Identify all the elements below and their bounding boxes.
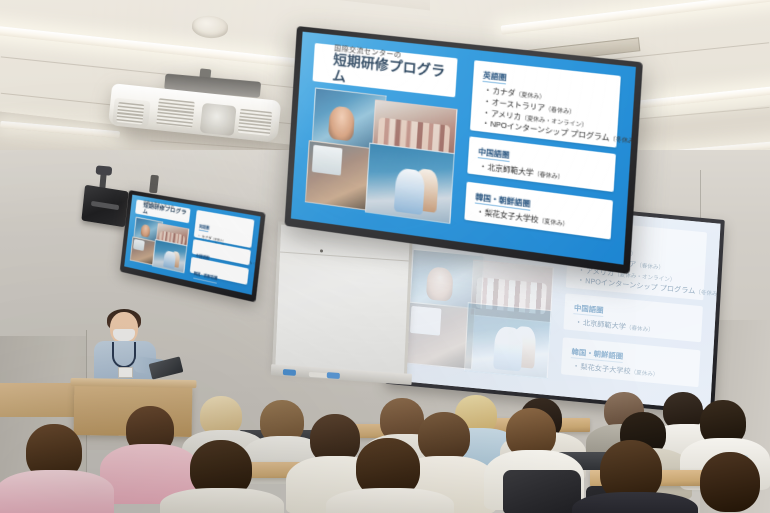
face-mask-icon [113,329,135,341]
slide-card-heading: 英語圏 [483,72,507,85]
slide-card-list: 北京師範大学（春休み） [563,317,702,341]
whiteboard-seam [280,252,409,262]
slide-card-korean: 韓国・朝鮮語圏 梨花女子大学校（夏休み） [561,337,701,387]
slide-card-list: 梨花女子大学校（夏休み） [464,206,612,237]
audience-shoulders [0,470,114,513]
front-desk [0,383,84,417]
slide-card-heading: 中国語圏 [478,148,510,162]
audience-shoulders [160,488,284,513]
slide-card-korean: 韓国・朝鮮語圏 梨花女子大学校（夏休み） [464,182,614,240]
whiteboard-marker [327,372,340,379]
whiteboard-fixing-dot [320,249,323,252]
slide-card-list: 梨花女子大学校（夏休み） [561,360,700,384]
projector-vent-icon [238,109,272,136]
wall-speaker [81,185,128,228]
list-item: 北京師範大学（春休み） [576,318,697,340]
photo-traditional-dress-courtyard [152,239,188,273]
list-item: 梨花女子大学校（夏休み） [573,362,694,384]
photo-traditional-dress-courtyard [464,302,552,379]
list-item: 梨花女子大学校（夏休み） [477,207,606,235]
audience-shoulders [326,488,454,513]
slide-card-list: カナダ（夏休み） オーストラリア（春休み） アメリカ（夏休み・オンライン） NP… [470,84,620,145]
lanyard-icon [112,342,136,368]
whiteboard-marker [283,369,296,376]
audience-shoulders [572,492,698,513]
audience-head [700,452,760,512]
projector-vent-icon [116,102,144,125]
slide-card-chinese: 中国語圏 北京師範大学（春休み） [563,293,703,341]
slide-card-heading: 英語圏 [199,225,210,233]
displayed-slide: 国際交流センターの 短期研修プログラム 英語圏 カナダ（夏休み） オースト [291,32,636,265]
backpack [503,470,581,513]
slide-card-chinese: 中国語圏 北京師範大学（春休み） [467,136,616,191]
display-screen: 国際交流センターの 短期研修プログラム 英語圏 カナダ（夏休み） オースト [291,32,636,265]
ceiling-light-fixture [0,121,120,138]
lecture-hall-photo: 国際交流センターの 短期研修プログラム 英語圏 カナダ（夏休み） オーストラ [0,0,770,513]
podium-top [70,378,196,388]
name-badge [118,367,133,378]
slide-photo-collage [129,216,189,274]
projector-vent-icon [156,98,195,128]
photo-traditional-dress-courtyard [365,143,455,225]
whiteboard [272,221,413,378]
slide-photo-collage [304,87,457,227]
audience-head [418,412,470,462]
projector-lens-icon [200,103,237,136]
slide-card-english: 英語圏 カナダ（夏休み） オーストラリア（春休み） アメリカ（夏休み・オンライン… [469,60,621,147]
slide-photo-collage [403,249,554,382]
slide-card-heading: 中国語圏 [574,304,604,317]
slide-card-heading: 韓国・朝鮮語圏 [571,348,623,363]
